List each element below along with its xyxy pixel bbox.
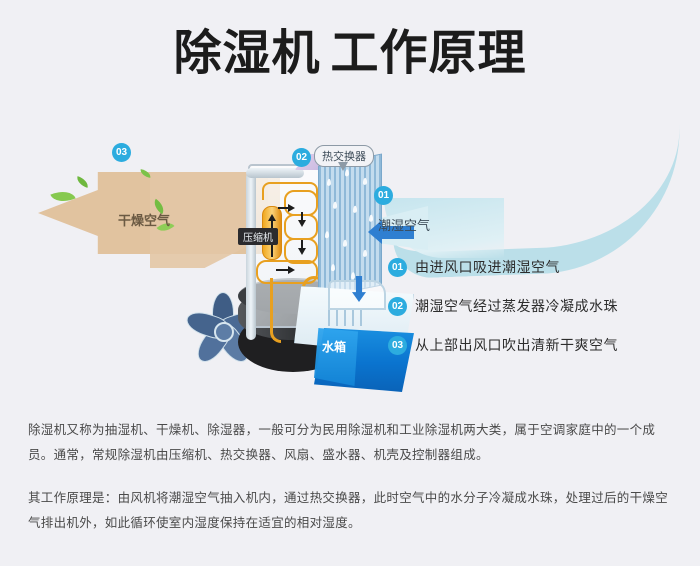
legend-item-label: 从上部出风口吹出清新干爽空气 xyxy=(415,335,618,355)
leaf-icon xyxy=(75,176,90,188)
coil-drain-tube xyxy=(270,278,281,343)
badge-01: 01 xyxy=(388,258,407,277)
water-droplet xyxy=(325,231,329,239)
label-compressor: 压缩机 xyxy=(238,228,278,245)
legend-item-label: 潮湿空气经过蒸发器冷凝成水珠 xyxy=(415,296,618,316)
flow-arrow-stem xyxy=(301,240,303,250)
flow-arrow-right xyxy=(288,266,295,274)
label-dry-air-text: 干燥空气 xyxy=(118,210,170,229)
legend-item-01: 01 由进风口吸进潮湿空气 xyxy=(388,257,688,277)
flow-arrow-up xyxy=(268,214,276,221)
callout-heat-exchanger: 02 xyxy=(292,148,311,167)
label-humid-air-text: 潮湿空气 xyxy=(378,215,430,234)
vertical-pipe xyxy=(246,172,256,340)
water-droplet xyxy=(343,239,347,247)
legend-item-02: 02 潮湿空气经过蒸发器冷凝成水珠 xyxy=(388,296,688,316)
water-droplet xyxy=(363,177,367,185)
water-droplet xyxy=(331,264,335,272)
tray-grill xyxy=(328,310,368,326)
flow-arrow-stem xyxy=(276,269,289,271)
bubble-tail-icon xyxy=(338,162,348,171)
water-droplet xyxy=(327,178,331,186)
description-block: 除湿机又称为抽湿机、干燥机、除湿器，一般可分为民用除湿机和工业除湿机两大类，属于… xyxy=(28,418,676,554)
flow-arrow-stem xyxy=(278,207,290,209)
fan-hub xyxy=(214,322,234,342)
badge-03: 03 xyxy=(388,336,407,355)
badge-02: 02 xyxy=(292,148,311,167)
page-title: 除湿机工作原理 xyxy=(0,28,700,81)
title-primary: 除湿机 xyxy=(173,27,320,80)
label-water-tank: 水箱 xyxy=(322,338,346,355)
water-droplet xyxy=(363,249,367,257)
page-root: { "page": { "background_color": "#f0f0f4… xyxy=(0,0,700,566)
flow-arrow-stem xyxy=(301,212,303,222)
badge-01: 01 xyxy=(374,186,393,205)
water-droplet xyxy=(353,205,357,213)
description-paragraph-1: 除湿机又称为抽湿机、干燥机、除湿器，一般可分为民用除湿机和工业除湿机两大类，属于… xyxy=(28,418,676,468)
water-droplet xyxy=(333,201,337,209)
water-droplet xyxy=(351,272,355,280)
legend-list: 01 由进风口吸进潮湿空气 02 潮湿空气经过蒸发器冷凝成水珠 03 从上部出风… xyxy=(388,257,688,374)
badge-02: 02 xyxy=(388,297,407,316)
description-paragraph-2: 其工作原理是：由风机将潮湿空气抽入机内，通过热交换器，此时空气中的水分子冷凝成水… xyxy=(28,486,676,536)
legend-item-label: 由进风口吸进潮湿空气 xyxy=(415,257,560,277)
badge-03: 03 xyxy=(112,143,131,162)
title-secondary: 工作原理 xyxy=(331,27,527,80)
water-tank-front-face xyxy=(314,328,358,386)
legend-item-03: 03 从上部出风口吹出清新干爽空气 xyxy=(388,335,688,355)
flow-arrow-stem xyxy=(271,245,273,257)
callout-dry-air: 03 xyxy=(112,143,131,162)
callout-humid-air: 01 xyxy=(374,186,393,205)
